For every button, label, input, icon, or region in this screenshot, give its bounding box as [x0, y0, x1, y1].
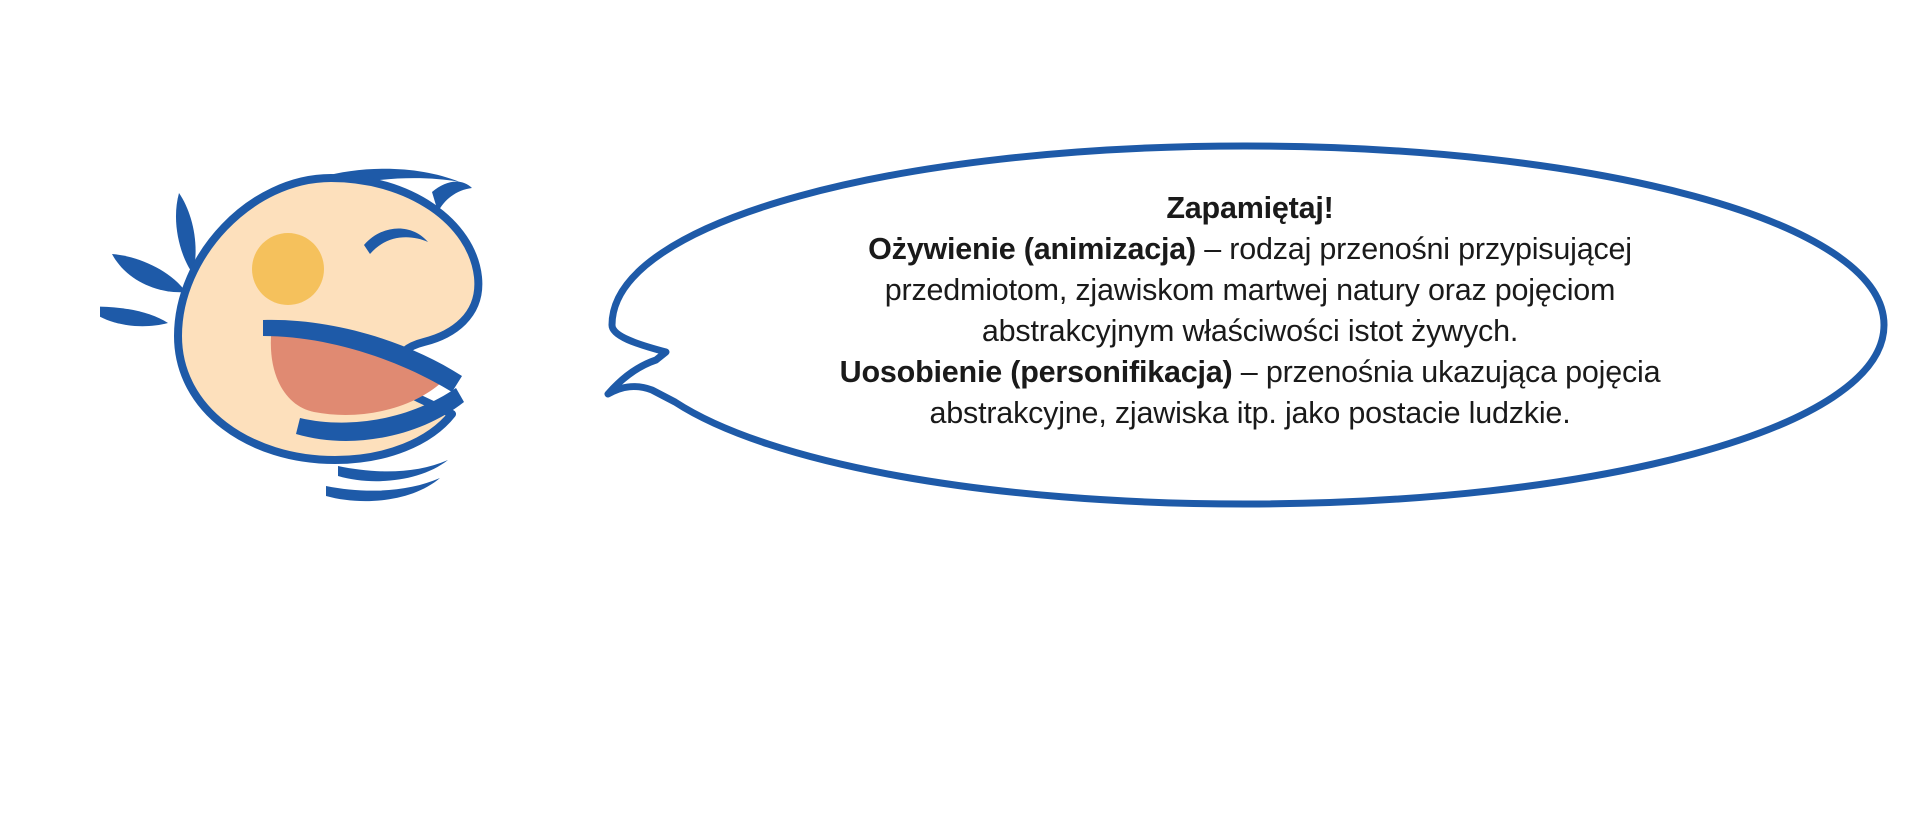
bubble-line-3: przedmiotom, zjawiskom martwej natury or…	[750, 270, 1750, 311]
hair-stroke-upper-icon	[176, 193, 196, 274]
line-3-rest: przedmiotom, zjawiskom martwej natury or…	[885, 273, 1616, 307]
bubble-line-5: Uosobienie (personifikacja) – przenośnia…	[750, 352, 1750, 393]
bubble-line-heading: Zapamiętaj!	[750, 188, 1750, 229]
term-ozywienie: Ożywienie (animizacja)	[868, 232, 1196, 266]
illustration-scene: Zapamiętaj! Ożywienie (animizacja) – rod…	[0, 0, 1920, 820]
hair-stroke-lower-icon	[100, 307, 168, 327]
hair-stroke-middle-icon	[112, 254, 186, 292]
bubble-line-2: Ożywienie (animizacja) – rodzaj przenośn…	[750, 229, 1750, 270]
mascot-svg	[100, 130, 520, 530]
line-4-rest: abstrakcyjnym właściwości istot żywych.	[982, 314, 1518, 348]
bubble-line-4: abstrakcyjnym właściwości istot żywych.	[750, 311, 1750, 352]
speech-bubble: Zapamiętaj! Ożywienie (animizacja) – rod…	[600, 140, 1890, 510]
motion-line-bottom-1-icon	[338, 460, 448, 481]
heading-term: Zapamiętaj!	[1166, 191, 1333, 225]
term-uosobienie: Uosobienie (personifikacja)	[840, 355, 1233, 389]
mascot-character	[100, 130, 520, 530]
line-6-rest: abstrakcyjne, zjawiska itp. jako postaci…	[930, 396, 1571, 430]
speech-bubble-text: Zapamiętaj! Ożywienie (animizacja) – rod…	[750, 188, 1750, 434]
line-5-rest: – przenośnia ukazująca pojęcia	[1233, 355, 1661, 389]
bubble-line-6: abstrakcyjne, zjawiska itp. jako postaci…	[750, 393, 1750, 434]
mascot-cheek-icon	[252, 233, 324, 305]
line-2-rest: – rodzaj przenośni przypisującej	[1196, 232, 1632, 266]
mascot-ear-icon	[432, 182, 472, 212]
motion-line-bottom-2-icon	[326, 478, 440, 501]
